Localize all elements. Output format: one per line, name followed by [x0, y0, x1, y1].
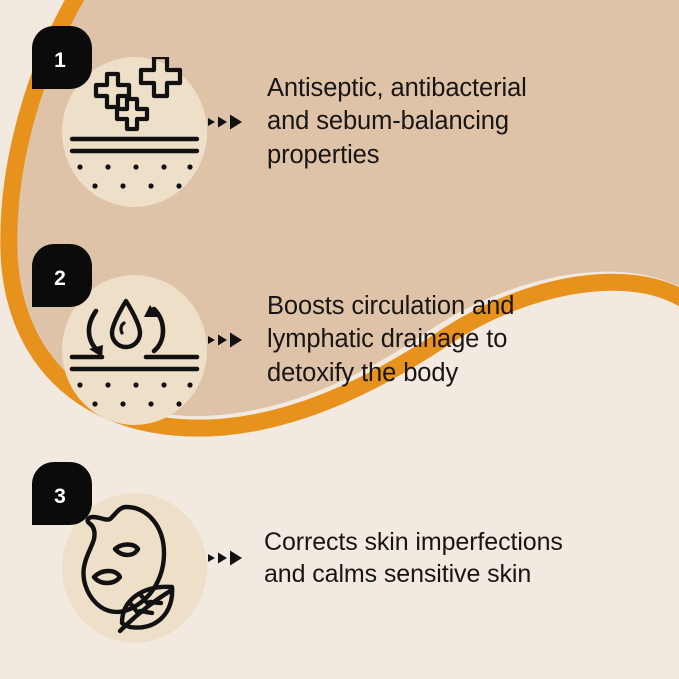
benefit-text: Antiseptic, antibacterial and sebum-bala…	[252, 72, 679, 171]
benefit-text: Boosts circulation and lymphatic drainag…	[252, 290, 679, 389]
triple-arrow-icon	[206, 330, 246, 350]
icon-cluster: 1	[0, 22, 252, 222]
icon-cluster: 2	[0, 240, 252, 440]
benefit-row: 1	[0, 22, 679, 222]
benefit-row: 2	[0, 240, 679, 440]
benefit-text: Corrects skin imperfections and calms se…	[252, 526, 679, 591]
benefit-row: 3	[0, 458, 679, 658]
benefits-infographic: 1	[0, 0, 679, 679]
antiseptic-plus-skin-icon	[62, 57, 207, 207]
circulation-droplet-skin-icon	[62, 275, 207, 425]
face-mask-leaf-icon	[62, 493, 207, 643]
icon-cluster: 3	[0, 458, 252, 658]
triple-arrow-icon	[206, 112, 246, 132]
triple-arrow-icon	[206, 548, 246, 568]
